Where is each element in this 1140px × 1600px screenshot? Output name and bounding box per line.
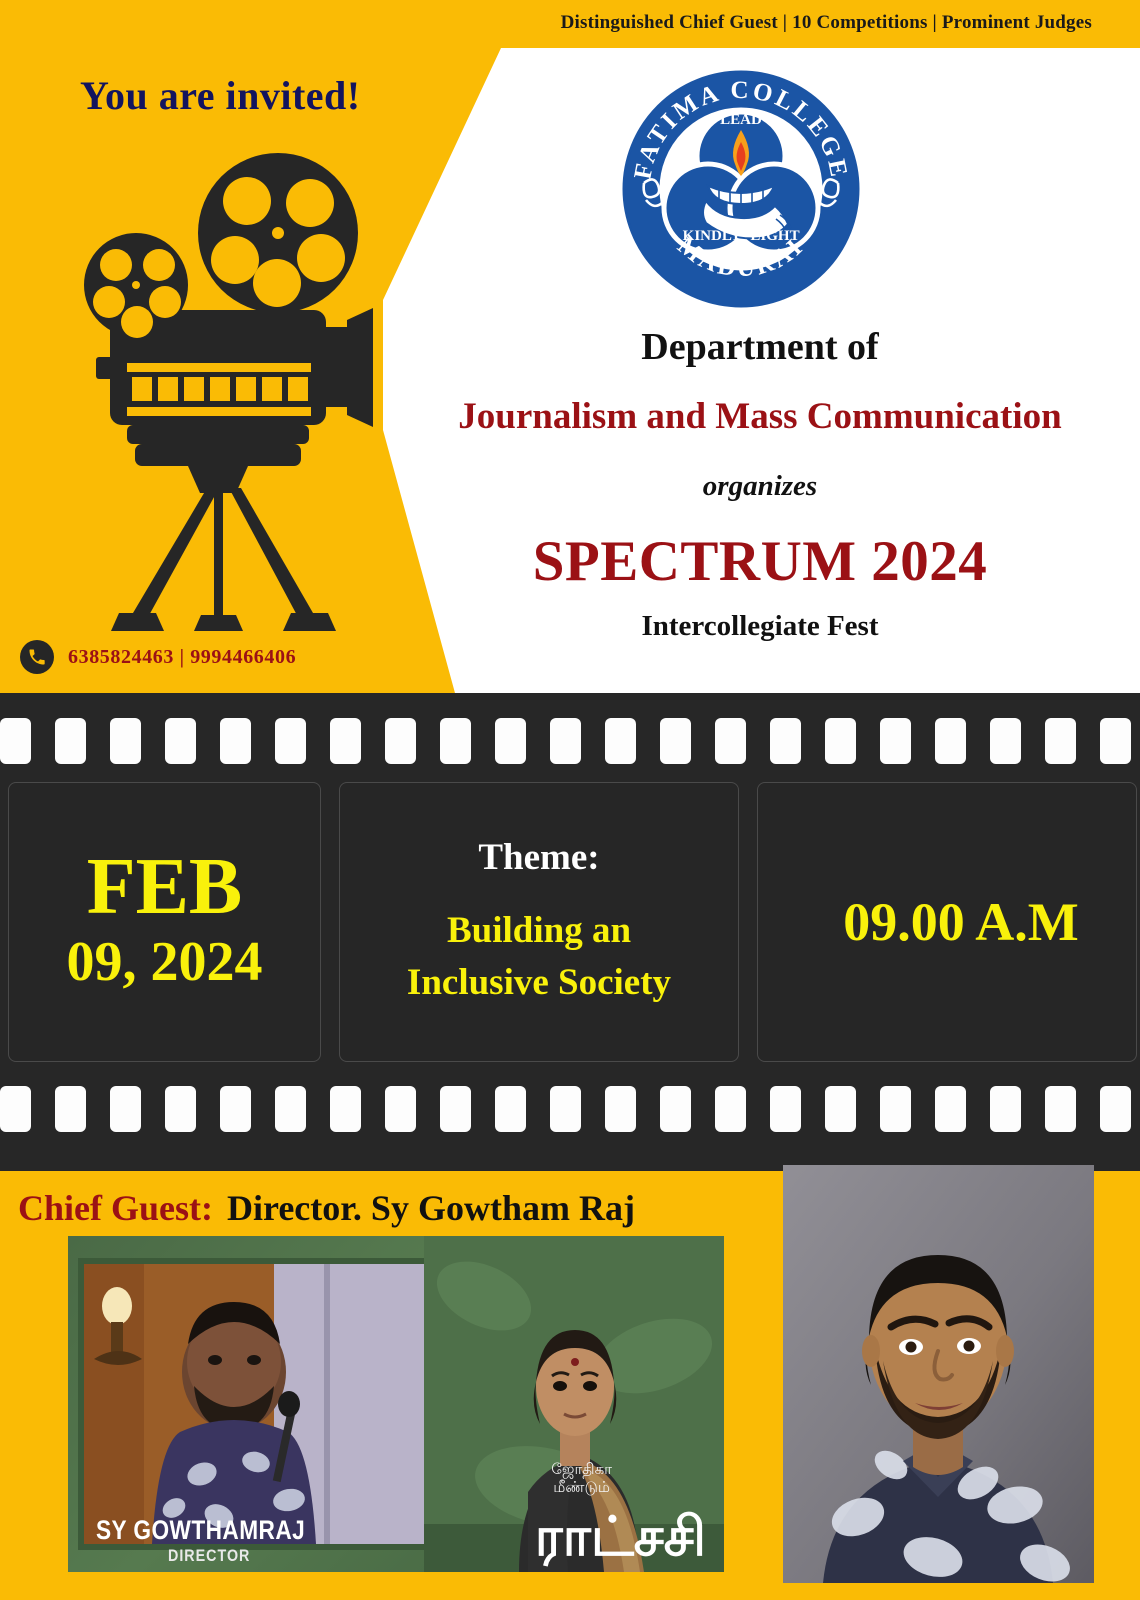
chief-guest-name: Director. Sy Gowtham Raj [227, 1188, 635, 1228]
filmstrip-perforation [275, 718, 306, 764]
filmstrip-perforation [0, 718, 31, 764]
organizes-word: organizes [400, 470, 1120, 503]
event-subtitle: Intercollegiate Fest [400, 610, 1120, 643]
filmstrip-perforation [935, 1086, 966, 1132]
filmstrip-perforation [880, 1086, 911, 1132]
filmstrip-perforation [605, 718, 636, 764]
theme-value: Building an Inclusive Society [407, 905, 671, 1007]
filmstrip-perforation [1100, 718, 1131, 764]
organizer-block: Department of Journalism and Mass Commun… [400, 325, 1120, 643]
filmstrip-perforation [660, 1086, 691, 1132]
fatima-college-logo: FATIMA COLLEGE MADURAI LEAD KINDLY LIGHT [620, 68, 862, 310]
filmstrip-perforation [220, 1086, 251, 1132]
logo-motto-lead: LEAD [720, 112, 762, 128]
filmstrip-perforation [110, 718, 141, 764]
date-day: 09, 2024 [67, 927, 263, 997]
filmstrip-perforation [550, 718, 581, 764]
filmstrip-perforation [440, 718, 471, 764]
time-frame: 09.00 A.M [757, 782, 1137, 1062]
theme-label: Theme: [478, 836, 599, 879]
press-meet-inset [78, 1258, 430, 1550]
filmstrip-perforation [165, 718, 196, 764]
filmstrip-perforation [1100, 1086, 1131, 1132]
department-name: Journalism and Mass Communication [400, 395, 1120, 438]
filmstrip-perforation [440, 1086, 471, 1132]
filmstrip-perforation [385, 718, 416, 764]
filmstrip-perforation [220, 718, 251, 764]
filmstrip-perforation [825, 718, 856, 764]
movie-title-tamil: ராட்சசி [535, 1510, 706, 1564]
filmstrip-perforation [110, 1086, 141, 1132]
poster-header: Distinguished Chief Guest | 10 Competiti… [0, 0, 1140, 693]
department-prefix: Department of [400, 325, 1120, 369]
filmstrip-perforation [385, 1086, 416, 1132]
highlights-banner: Distinguished Chief Guest | 10 Competiti… [561, 12, 1092, 34]
filmstrip-perforation [935, 718, 966, 764]
filmstrip-perforation [165, 1086, 196, 1132]
filmstrip-perforation [605, 1086, 636, 1132]
chief-guest-label: Chief Guest: [18, 1188, 213, 1228]
movie-brand-tamil: ஜோதிகா மீண்டும் [551, 1461, 612, 1499]
time-value: 09.00 A.M [843, 891, 1079, 953]
chief-guest-portrait-photo [783, 1165, 1094, 1583]
filmstrip-section: FEB 09, 2024 Theme: Building an Inclusiv… [0, 693, 1140, 1171]
filmstrip-perforation [880, 718, 911, 764]
filmstrip-perforation [990, 1086, 1021, 1132]
theme-value-line2: Inclusive Society [407, 957, 671, 1008]
logo-motto-kindly: KINDLY [683, 228, 742, 244]
date-month: FEB [87, 847, 243, 927]
filmstrip-perforation [770, 718, 801, 764]
invitation-headline: You are invited! [80, 72, 361, 119]
filmstrip-frames: FEB 09, 2024 Theme: Building an Inclusiv… [0, 782, 1140, 1062]
movie-brand-tagline: மீண்டும் [551, 1479, 612, 1498]
filmstrip-perforation [825, 1086, 856, 1132]
filmstrip-perforation [550, 1086, 581, 1132]
event-poster: Distinguished Chief Guest | 10 Competiti… [0, 0, 1140, 1600]
movie-brand-name: ஜோதிகா [551, 1461, 612, 1480]
news-caption-role: DIRECTOR [168, 1546, 250, 1566]
news-caption-name: SY GOWTHAMRAJ [96, 1515, 305, 1546]
filmstrip-perforation [55, 718, 86, 764]
contact-row: 6385824463 | 9994466406 [20, 640, 296, 674]
filmstrip-perforations-bottom [0, 1081, 1140, 1137]
filmstrip-perforations-top [0, 713, 1140, 769]
phone-numbers-text: 6385824463 | 9994466406 [68, 646, 296, 669]
film-projector-icon [55, 145, 395, 650]
theme-frame: Theme: Building an Inclusive Society [339, 782, 739, 1062]
filmstrip-perforation [770, 1086, 801, 1132]
filmstrip-perforation [1045, 1086, 1076, 1132]
filmstrip-perforation [275, 1086, 306, 1132]
filmstrip-perforation [55, 1086, 86, 1132]
filmstrip-perforation [0, 1086, 31, 1132]
logo-motto-light: LIGHT [750, 228, 799, 244]
filmstrip-perforation [660, 718, 691, 764]
filmstrip-perforation [495, 1086, 526, 1132]
filmstrip-perforation [990, 718, 1021, 764]
filmstrip-perforation [715, 718, 746, 764]
filmstrip-perforation [715, 1086, 746, 1132]
event-title: SPECTRUM 2024 [400, 529, 1120, 594]
theme-value-line1: Building an [407, 905, 671, 956]
filmstrip-perforation [1045, 718, 1076, 764]
news-still-photo: ஜோதிகா மீண்டும் ராட்சசி SY GOWTHAMRAJ DI… [68, 1236, 724, 1572]
filmstrip-perforation [495, 718, 526, 764]
phone-icon [20, 640, 54, 674]
date-frame: FEB 09, 2024 [8, 782, 321, 1062]
chief-guest-line: Chief Guest:Director. Sy Gowtham Raj [18, 1187, 635, 1229]
filmstrip-perforation [330, 718, 361, 764]
filmstrip-perforation [330, 1086, 361, 1132]
